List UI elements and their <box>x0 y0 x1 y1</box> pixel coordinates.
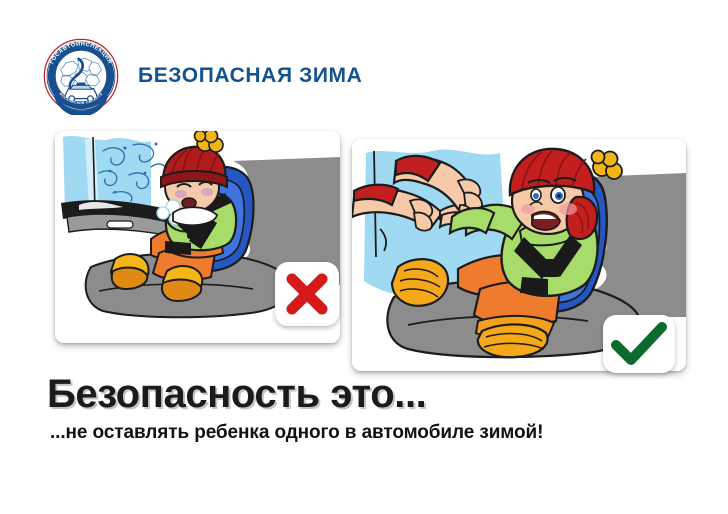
emblem-icon: ГОСАВТОИНСПЕКЦИЯ МОСКОВСКОЙ ОБЛАСТИ <box>42 37 120 115</box>
status-badge-correct[interactable] <box>603 315 675 373</box>
gosavtoinspektsiya-logo: ГОСАВТОИНСПЕКЦИЯ МОСКОВСКОЙ ОБЛАСТИ <box>42 37 120 115</box>
check-icon <box>603 315 675 373</box>
footer-headline: Безопасность это... <box>47 372 426 417</box>
footer-subline: ...не оставлять ребенка одного в автомоб… <box>50 422 543 444</box>
cross-icon <box>275 262 339 326</box>
status-badge-wrong[interactable] <box>275 262 339 326</box>
poster-canvas: ГОСАВТОИНСПЕКЦИЯ МОСКОВСКОЙ ОБЛАСТИ БЕЗО… <box>0 0 728 514</box>
poster-header: ГОСАВТОИНСПЕКЦИЯ МОСКОВСКОЙ ОБЛАСТИ БЕЗО… <box>42 34 682 118</box>
page-title: БЕЗОПАСНАЯ ЗИМА <box>138 64 362 88</box>
